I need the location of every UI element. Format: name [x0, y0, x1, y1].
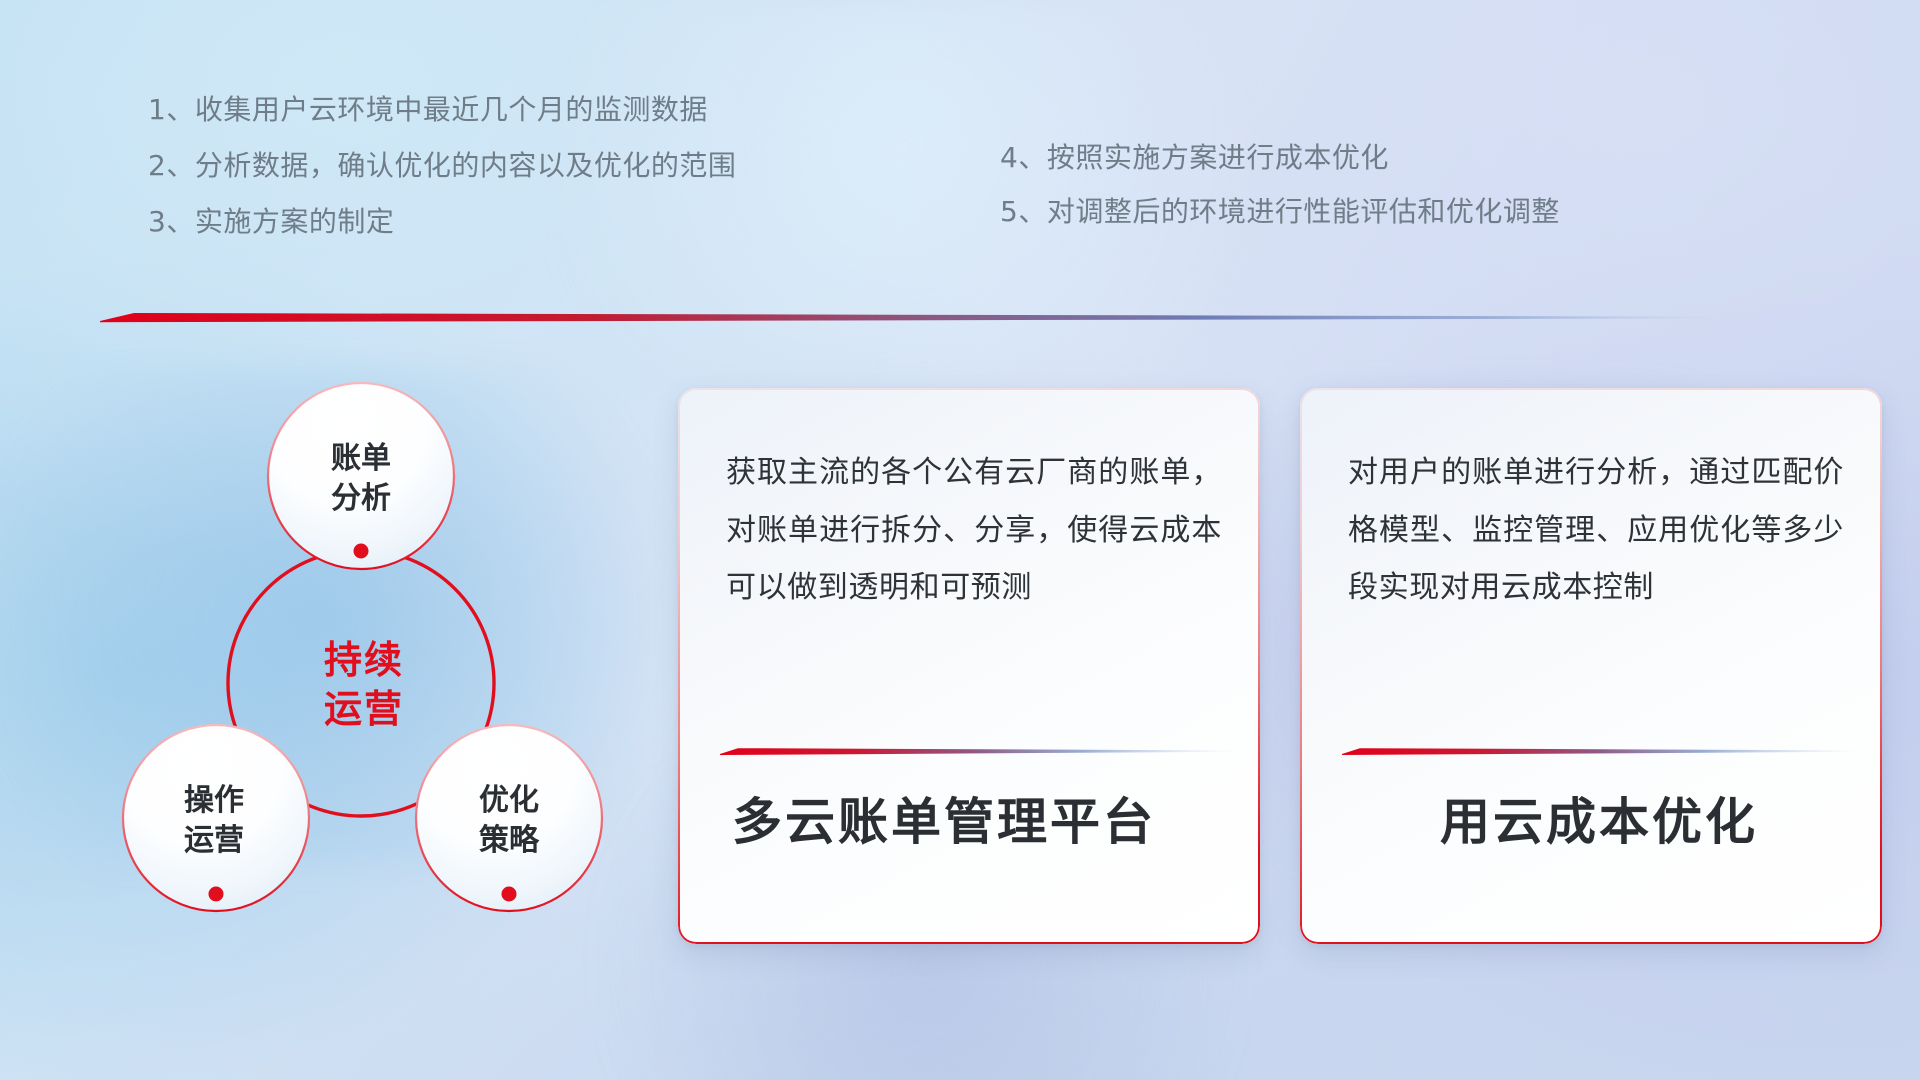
venn-connector-bottom-left [209, 887, 224, 941]
steps-list-left: 1、收集用户云环境中最近几个月的监测数据 2、分析数据，确认优化的内容以及优化的… [148, 96, 736, 264]
card-title: 多云账单管理平台 [724, 792, 1230, 852]
center-label-line2: 运营 [324, 687, 404, 731]
card-divider [720, 740, 1236, 749]
venn-node-bottom-right-label-1: 优化 [479, 783, 539, 818]
center-label-line1: 持续 [324, 638, 404, 682]
card-body-text: 获取主流的各个公有云厂商的账单，对账单进行拆分、分享，使得云成本可以做到透明和可… [726, 444, 1222, 617]
card-body-text: 对用户的账单进行分析，通过匹配价格模型、监控管理、应用优化等多少段实现对用云成本… [1348, 444, 1844, 617]
list-item: 3、实施方案的制定 [148, 208, 736, 236]
section-divider [100, 308, 1720, 322]
list-item: 1、收集用户云环境中最近几个月的监测数据 [148, 96, 736, 124]
card-title: 用云成本优化 [1346, 792, 1852, 852]
venn-svg: 账单 分析 操作 运营 优化 策略 持续 运营 [96, 348, 656, 958]
card-divider-shape [720, 746, 1236, 755]
list-item: 5、对调整后的环境进行性能评估和优化调整 [1000, 198, 1560, 226]
feature-card-multicloud-billing[interactable]: 获取主流的各个公有云厂商的账单，对账单进行拆分、分享，使得云成本可以做到透明和可… [678, 388, 1260, 944]
venn-node-top-label-2: 分析 [331, 481, 391, 516]
steps-list-right: 4、按照实施方案进行成本优化 5、对调整后的环境进行性能评估和优化调整 [1000, 144, 1560, 252]
card-divider-shape [1342, 746, 1858, 755]
venn-node-bottom-right[interactable] [416, 725, 602, 911]
venn-node-top[interactable] [268, 383, 454, 569]
venn-node-bottom-left-label-2: 运营 [184, 823, 244, 858]
section-divider-shape [100, 309, 1720, 323]
list-item: 2、分析数据，确认优化的内容以及优化的范围 [148, 152, 736, 180]
venn-node-bottom-right-label-2: 策略 [479, 823, 540, 858]
card-divider [1342, 740, 1858, 749]
venn-node-bottom-left-label-1: 操作 [184, 783, 244, 818]
continuous-operation-diagram: 账单 分析 操作 运营 优化 策略 持续 运营 [96, 348, 656, 958]
venn-connector-bottom-right [502, 887, 517, 941]
venn-node-top-label-1: 账单 [331, 441, 391, 476]
venn-node-bottom-left[interactable] [123, 725, 309, 911]
list-item: 4、按照实施方案进行成本优化 [1000, 144, 1560, 172]
feature-card-cloud-cost-optimization[interactable]: 对用户的账单进行分析，通过匹配价格模型、监控管理、应用优化等多少段实现对用云成本… [1300, 388, 1882, 944]
